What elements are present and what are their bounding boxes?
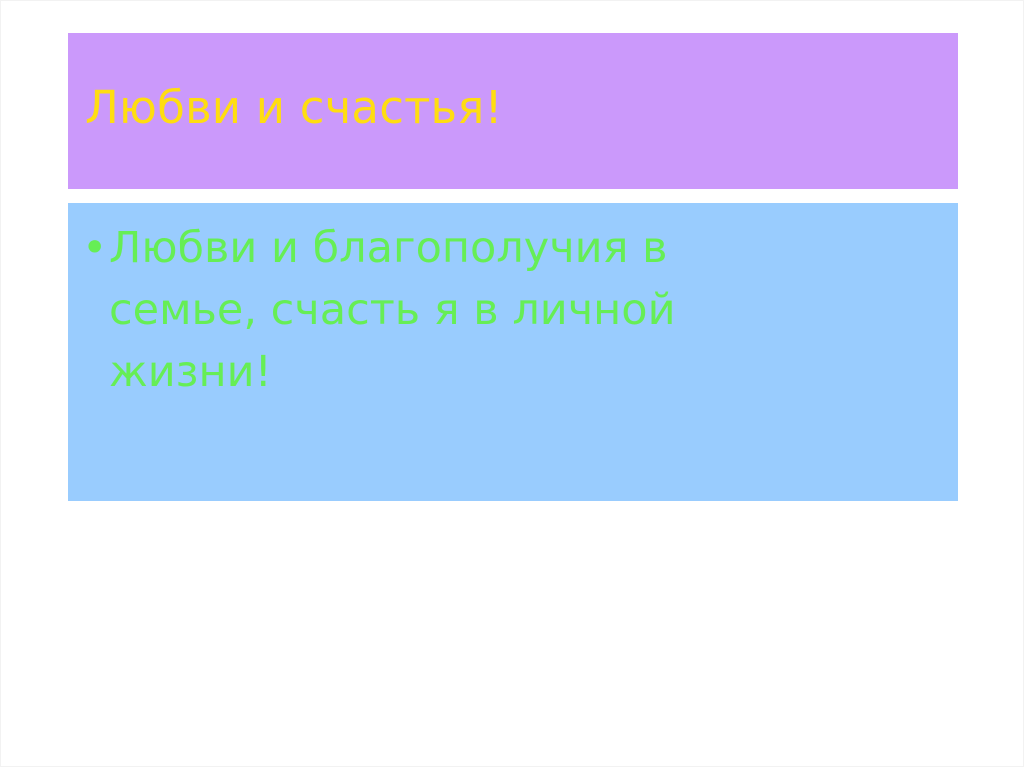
page-title: Любви и счастья! — [85, 81, 503, 135]
bullet-list: • Любви и благополучия в семье, счасть я… — [82, 217, 792, 403]
content-block: • Любви и благополучия в семье, счасть я… — [68, 203, 958, 501]
list-item-label: Любви и благополучия в семье, счасть я в… — [109, 223, 676, 397]
title-block: Любви и счастья! — [68, 33, 958, 189]
list-item: • Любви и благополучия в семье, счасть я… — [82, 217, 792, 403]
bullet-icon: • — [82, 217, 109, 279]
slide-canvas: Любви и счастья! • Любви и благополучия … — [0, 0, 1024, 767]
